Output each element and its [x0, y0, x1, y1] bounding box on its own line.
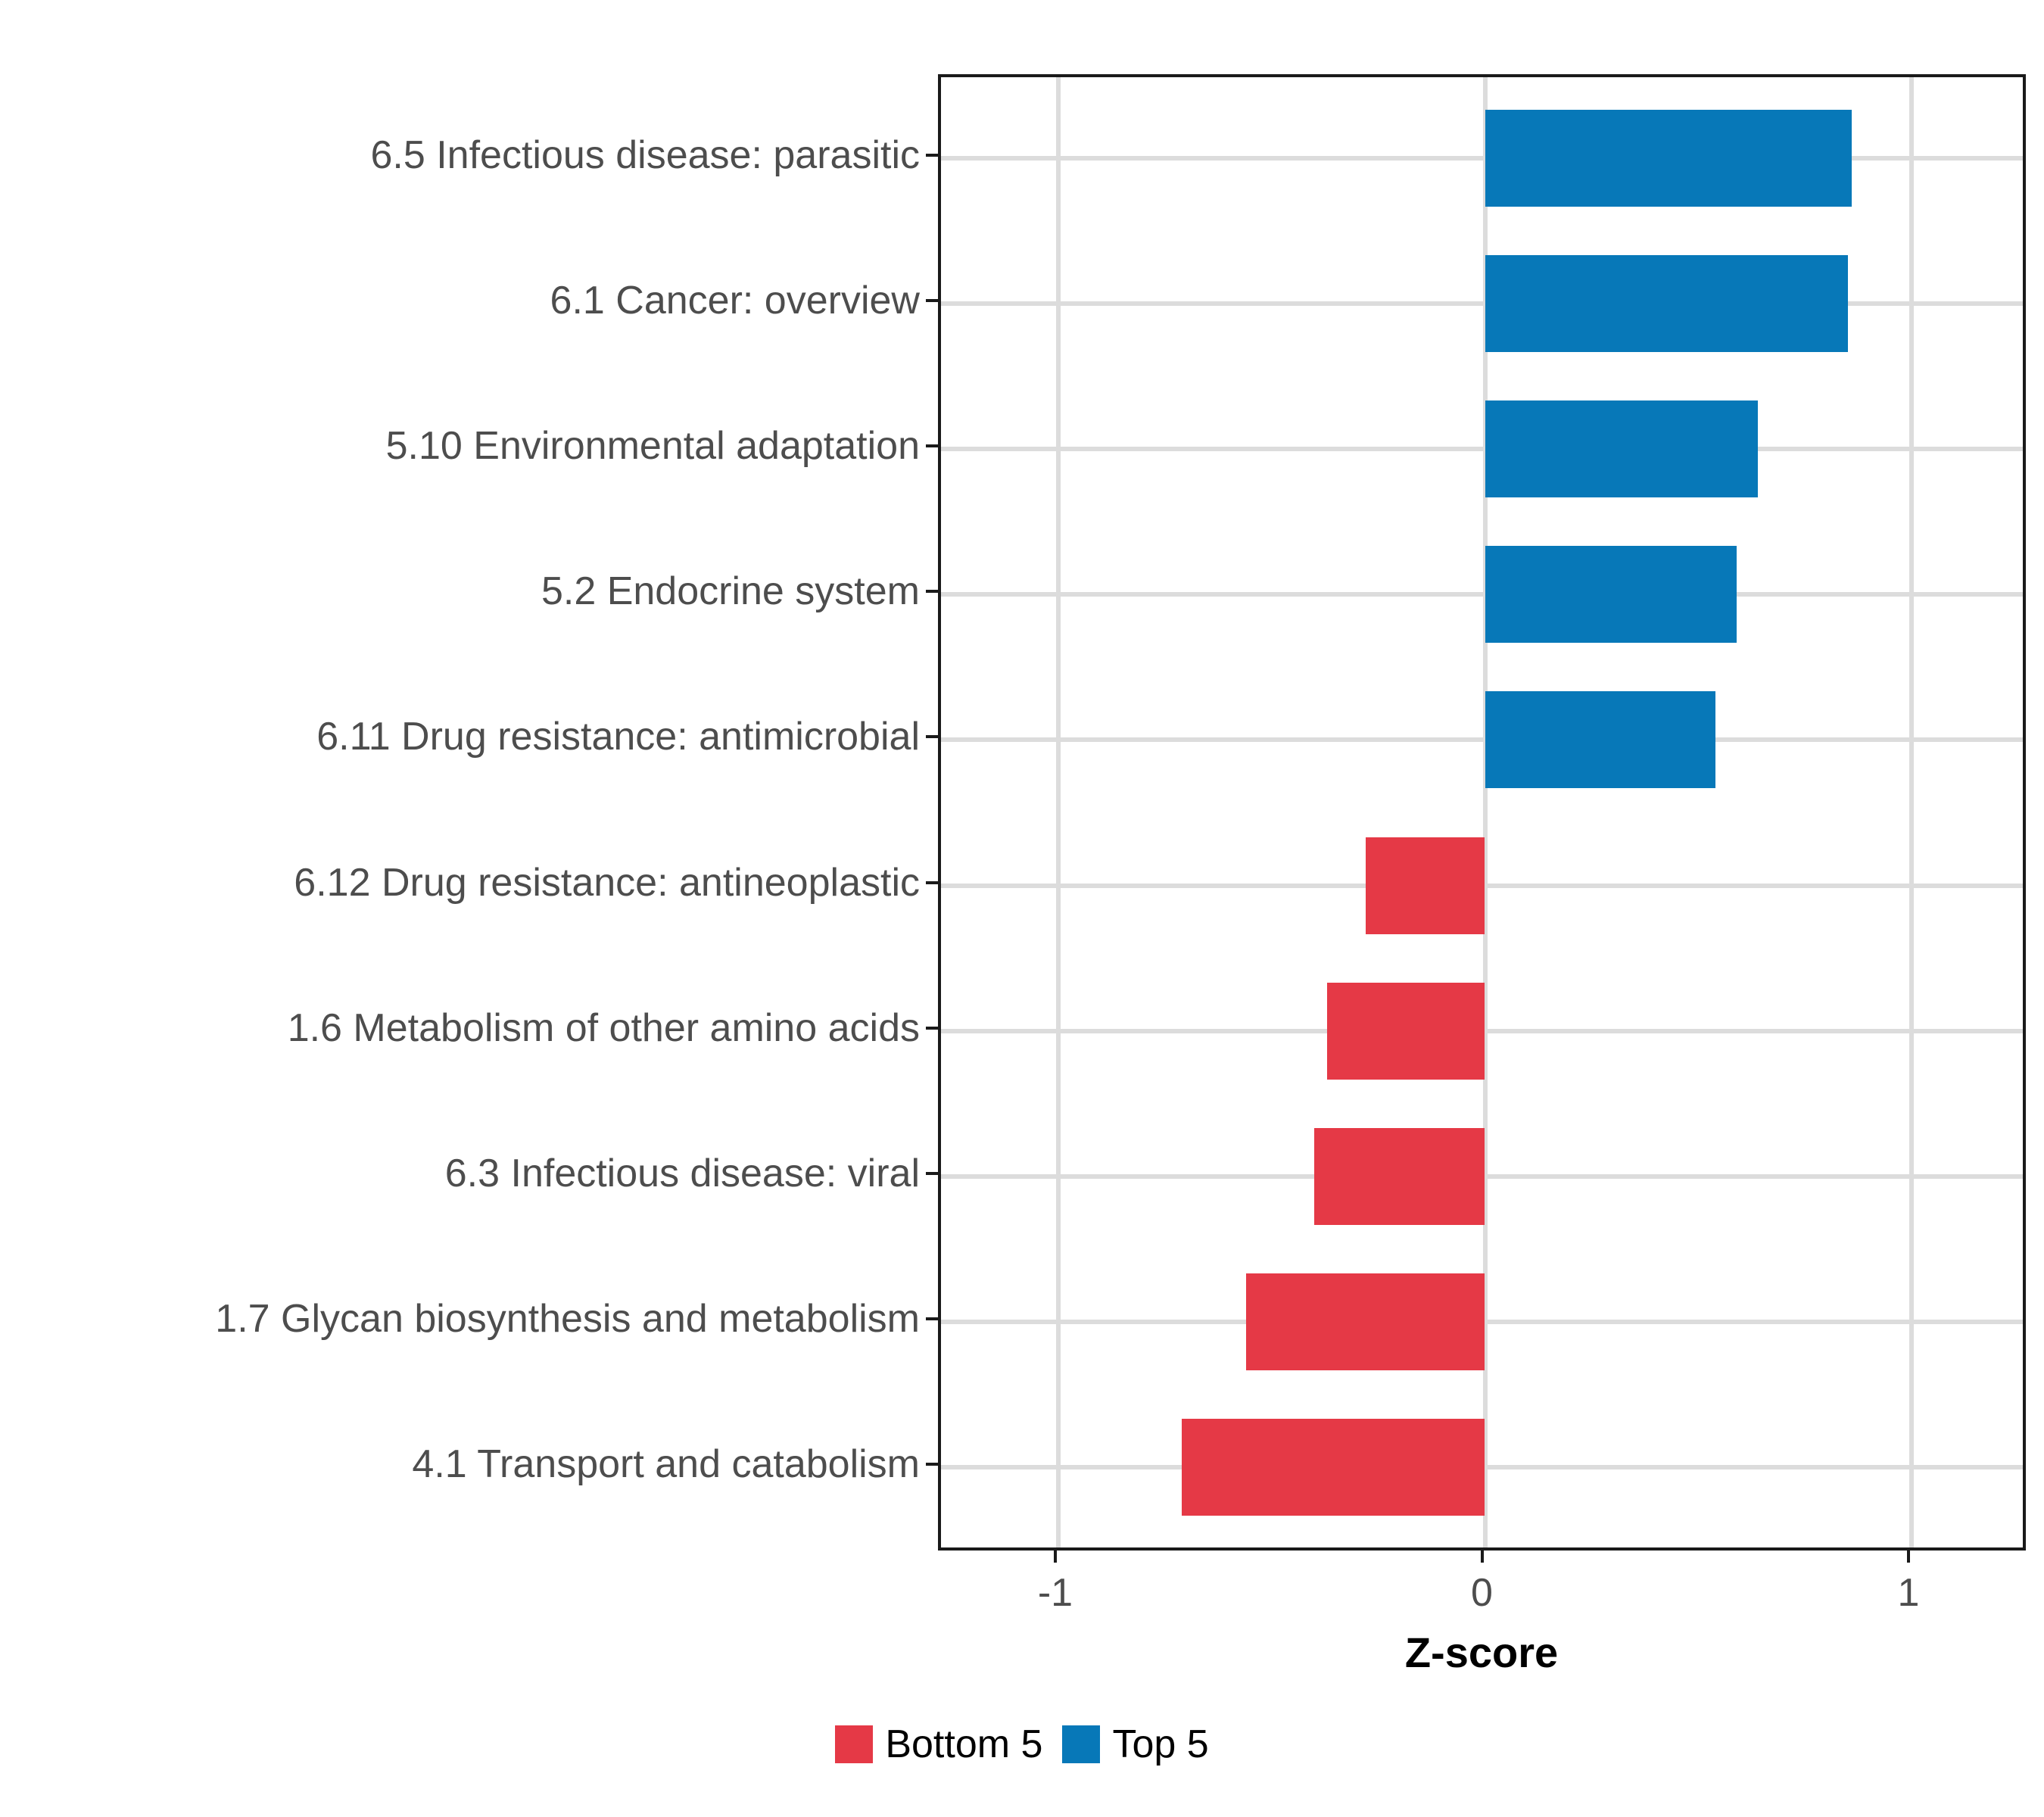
- x-tick-label: 0: [1471, 1573, 1493, 1613]
- bar: [1485, 255, 1848, 352]
- bar: [1327, 983, 1485, 1080]
- legend-swatch-icon: [1062, 1725, 1100, 1763]
- chart-legend: Bottom 5Top 5: [0, 1725, 2044, 1764]
- y-tick-mark: [926, 590, 938, 593]
- x-axis-title: Z-score: [1405, 1628, 1558, 1677]
- y-gridline: [941, 447, 2023, 451]
- bar: [1485, 691, 1715, 788]
- legend-item[interactable]: Top 5: [1062, 1725, 1208, 1764]
- bar: [1314, 1128, 1485, 1225]
- y-axis-label: 5.2 Endocrine system: [541, 572, 920, 611]
- bar: [1485, 400, 1759, 497]
- bar: [1246, 1273, 1485, 1370]
- z-score-bar-chart: 6.5 Infectious disease: parasitic6.1 Can…: [0, 0, 2044, 1817]
- y-axis-label: 5.10 Environmental adaptation: [386, 426, 920, 466]
- y-tick-mark: [926, 154, 938, 157]
- y-tick-mark: [926, 735, 938, 738]
- y-gridline: [941, 737, 2023, 742]
- y-axis-label: 6.12 Drug resistance: antineoplastic: [294, 863, 920, 902]
- bar: [1366, 837, 1485, 934]
- y-tick-mark: [926, 1317, 938, 1320]
- y-axis-category-labels: 6.5 Infectious disease: parasitic6.1 Can…: [0, 0, 920, 1817]
- y-axis-label: 6.3 Infectious disease: viral: [445, 1154, 920, 1193]
- legend-label: Bottom 5: [885, 1725, 1042, 1764]
- x-tick-mark: [1481, 1551, 1484, 1563]
- y-tick-mark: [926, 1027, 938, 1030]
- y-axis-label: 6.1 Cancer: overview: [550, 281, 920, 320]
- y-tick-mark: [926, 1172, 938, 1175]
- y-axis-label: 4.1 Transport and catabolism: [412, 1445, 920, 1484]
- bar: [1485, 546, 1737, 643]
- bar: [1182, 1419, 1485, 1516]
- y-tick-mark: [926, 1463, 938, 1466]
- y-tick-mark: [926, 444, 938, 447]
- x-tick-mark: [1907, 1551, 1910, 1563]
- y-tick-mark: [926, 299, 938, 302]
- x-gridline: [1909, 77, 1914, 1547]
- x-gridline: [1056, 77, 1061, 1547]
- y-gridline: [941, 301, 2023, 306]
- x-tick-label: -1: [1038, 1573, 1073, 1613]
- x-tick-label: 1: [1898, 1573, 1920, 1613]
- y-axis-label: 1.6 Metabolism of other amino acids: [288, 1008, 920, 1048]
- y-gridline: [941, 156, 2023, 161]
- legend-swatch-icon: [835, 1725, 873, 1763]
- legend-item[interactable]: Bottom 5: [835, 1725, 1042, 1764]
- y-axis-label: 6.5 Infectious disease: parasitic: [370, 136, 920, 175]
- plot-panel: [938, 74, 2026, 1551]
- legend-label: Top 5: [1112, 1725, 1208, 1764]
- y-tick-mark: [926, 881, 938, 884]
- y-axis-label: 1.7 Glycan biosynthesis and metabolism: [215, 1299, 920, 1339]
- bar: [1485, 110, 1852, 207]
- x-tick-mark: [1054, 1551, 1057, 1563]
- y-gridline: [941, 592, 2023, 597]
- y-axis-label: 6.11 Drug resistance: antimicrobial: [316, 717, 920, 756]
